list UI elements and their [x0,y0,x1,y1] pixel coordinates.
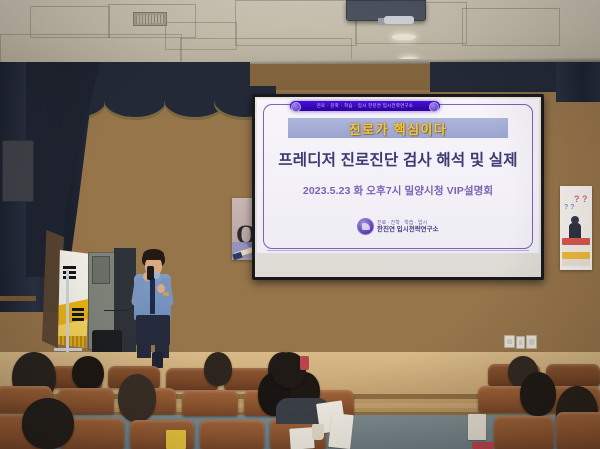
equipment-case [92,330,122,354]
equipment-stand-foot [54,348,82,351]
poster-book [562,238,590,245]
light-switch-plate[interactable] [526,335,537,349]
presenter-hair-top [143,249,164,260]
wall-shelf [0,296,36,301]
audience-head [520,372,556,416]
smartphone[interactable] [300,356,309,370]
ceiling-light-icon [392,34,416,40]
seat[interactable] [556,412,600,449]
handout-paper[interactable] [289,427,314,449]
paintbrush-tip-icon [232,252,242,260]
slide-headline-band: 진로가 핵심이다 [288,118,508,138]
institute-logo-icon [357,218,374,235]
equipment-panel [92,256,110,284]
slide-title: 프레디저 진로진단 검사 해석 및 실제 [257,148,539,170]
poster-book [562,245,590,252]
poster-question-marks-2: ? ? [564,204,575,211]
seat[interactable] [546,364,600,386]
poster-book [562,259,590,266]
red-item [472,442,494,449]
presenter-leg-left [137,340,151,358]
light-switch-plate[interactable] [504,335,515,348]
projector-lens-icon [384,16,414,24]
auditorium-photo: Q ? ? ? ? 진로 · 진학 · 학습 · 입시 한진연 입시전략연구소 … [0,0,600,449]
yellow-bag [166,430,186,449]
slide-headline-text: 진로가 핵심이다 [349,119,448,138]
stage-curtain-right [556,62,600,102]
handout-paper[interactable] [328,413,353,449]
slide-ribbon-banner: 진로 · 진학 · 학습 · 입시 한진연 입시전략연구소 [290,101,440,111]
ribbon-logo-right-icon [429,102,439,112]
paper-cup[interactable] [312,424,324,440]
light-switch-plate[interactable] [516,336,525,349]
audience-head [22,398,74,449]
presenter-tie [150,278,155,314]
korean-flag-banner [58,250,90,348]
poster-question-marks: ? ? [574,194,588,204]
microphone [147,266,154,280]
seat[interactable] [182,390,238,416]
ceiling-vent-icon [133,12,167,26]
equipment-stand-pole [66,270,69,352]
slide-logo: 진로 · 진학 · 학습 · 입시 한진연 입시전략연구소 [357,218,439,235]
audience-head [72,356,104,390]
audience-head [204,352,232,386]
slide-ribbon-text: 진로 · 진학 · 학습 · 입시 한진연 입시전략연구소 [317,103,414,109]
seat[interactable] [494,416,554,449]
presentation-slide: 진로 · 진학 · 학습 · 입시 한진연 입시전략연구소 진로가 핵심이다 프… [257,99,539,253]
handout-paper[interactable] [468,414,486,440]
slide-footer-line [267,250,529,251]
slide-logo-line2: 한진연 입시전략연구소 [377,226,439,234]
poster-book [562,252,590,259]
seat[interactable] [200,420,264,449]
wall-poster-right: ? ? ? ? [560,186,592,270]
wall-speaker [2,140,34,202]
ribbon-logo-left-icon [291,102,301,112]
presenter-wristwatch [163,292,169,296]
slide-subtitle: 2023.5.23 화 오후7시 밀양시청 VIP설명회 [257,183,539,198]
audience-head [118,374,156,422]
